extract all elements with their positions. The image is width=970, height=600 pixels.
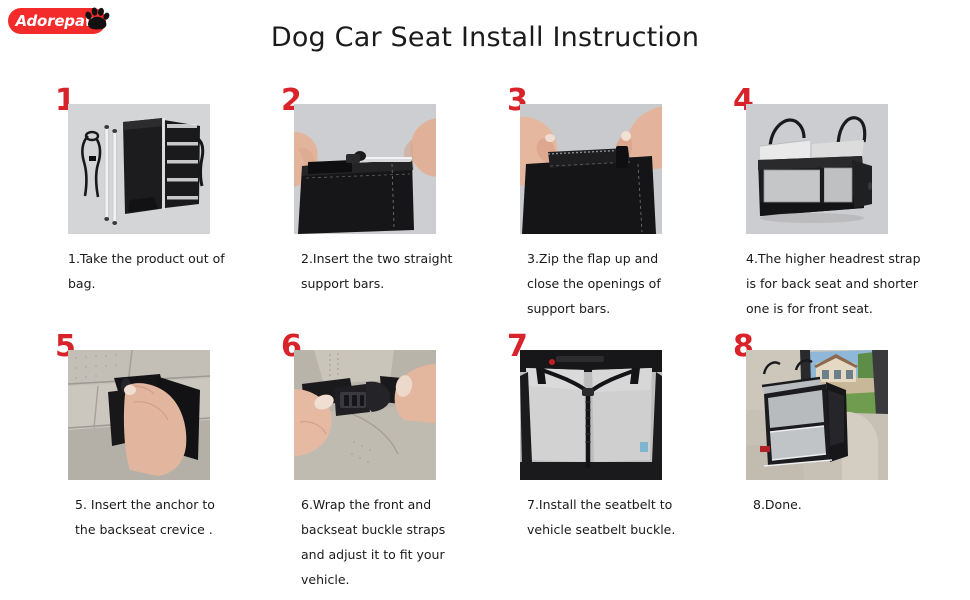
step-caption: 3.Zip the flap up and close the openings… (527, 246, 737, 321)
finished-install-photo (746, 350, 888, 480)
product-unpacked-photo (68, 104, 210, 234)
page-title: Dog Car Seat Install Instruction (0, 22, 970, 53)
assembled-carrier-straps-photo (746, 104, 888, 234)
step-caption: 7.Install the seatbelt to vehicle seatbe… (527, 492, 737, 542)
step-caption: 4.The higher headrest strap is for back … (746, 246, 956, 321)
step-caption: 2.Insert the two straight support bars. (301, 246, 511, 296)
seatbelt-install-photo (520, 350, 662, 480)
zipping-flap-photo (520, 104, 662, 234)
step-caption: 5. Insert the anchor to the backseat cre… (75, 492, 285, 542)
step-caption: 8.Done. (753, 492, 963, 517)
anchor-into-crevice-photo (68, 350, 210, 480)
inserting-support-bar-photo (294, 104, 436, 234)
buckle-straps-photo (294, 350, 436, 480)
step-caption: 1.Take the product out of bag. (68, 246, 278, 296)
step-caption: 6.Wrap the front and backseat buckle str… (301, 492, 511, 592)
